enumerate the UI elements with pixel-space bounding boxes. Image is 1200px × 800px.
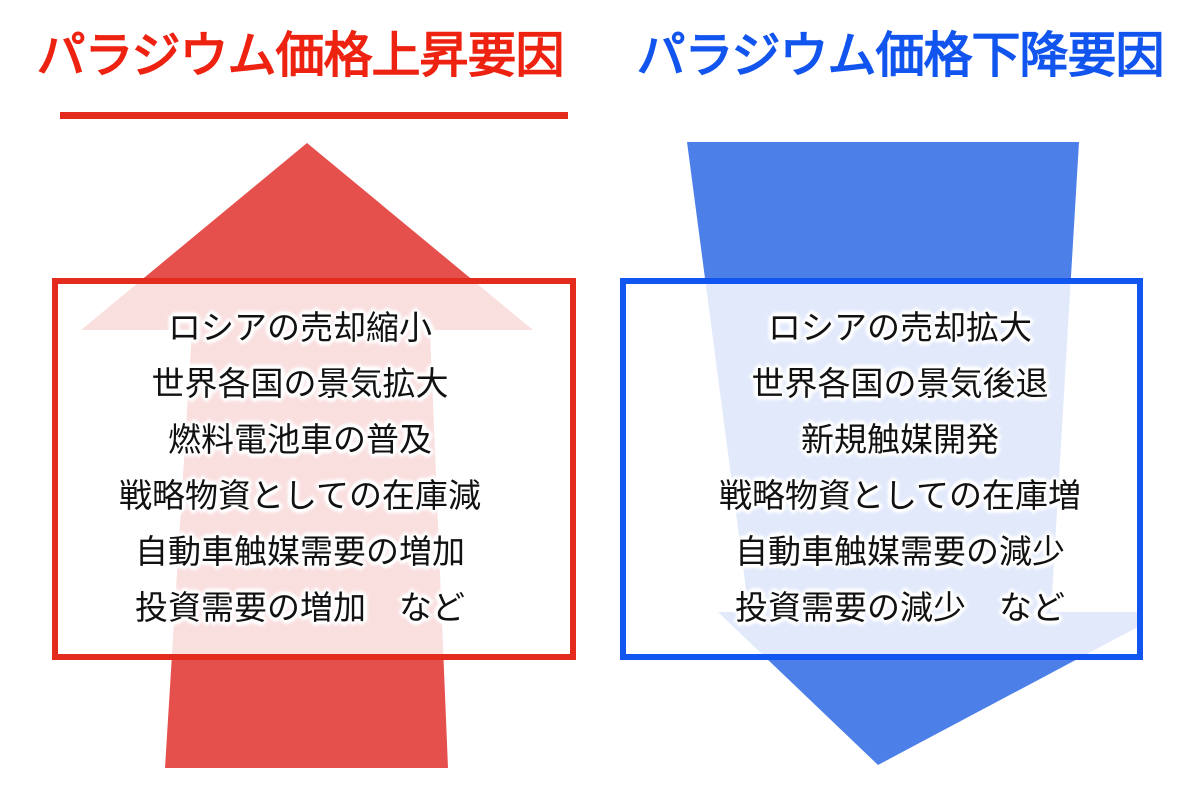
list-item: 燃料電池車の普及	[0, 412, 600, 468]
list-item: ロシアの売却拡大	[600, 300, 1200, 356]
list-item: 新規触媒開発	[600, 412, 1200, 468]
slide-canvas: パラジウム価格上昇要因 パラジウム価格下降要因 ロシアの売却縮小 世界各国の景気…	[0, 0, 1200, 800]
list-item: ロシアの売却縮小	[0, 300, 600, 356]
list-item: 世界各国の景気拡大	[0, 356, 600, 412]
list-item: 自動車触媒需要の増加	[0, 524, 600, 580]
list-item: 戦略物資としての在庫増	[600, 468, 1200, 524]
page-title-left: パラジウム価格上昇要因	[0, 30, 600, 84]
list-item: 自動車触媒需要の減少	[600, 524, 1200, 580]
factor-list-left: ロシアの売却縮小 世界各国の景気拡大 燃料電池車の普及 戦略物資としての在庫減 …	[0, 300, 600, 636]
list-item: 戦略物資としての在庫減	[0, 468, 600, 524]
factor-list-right: ロシアの売却拡大 世界各国の景気後退 新規触媒開発 戦略物資としての在庫増 自動…	[600, 300, 1200, 636]
page-title-right: パラジウム価格下降要因	[600, 30, 1200, 84]
list-item: 投資需要の増加 など	[0, 580, 600, 636]
title-underline-left	[60, 112, 568, 119]
list-item: 投資需要の減少 など	[600, 580, 1200, 636]
list-item: 世界各国の景気後退	[600, 356, 1200, 412]
